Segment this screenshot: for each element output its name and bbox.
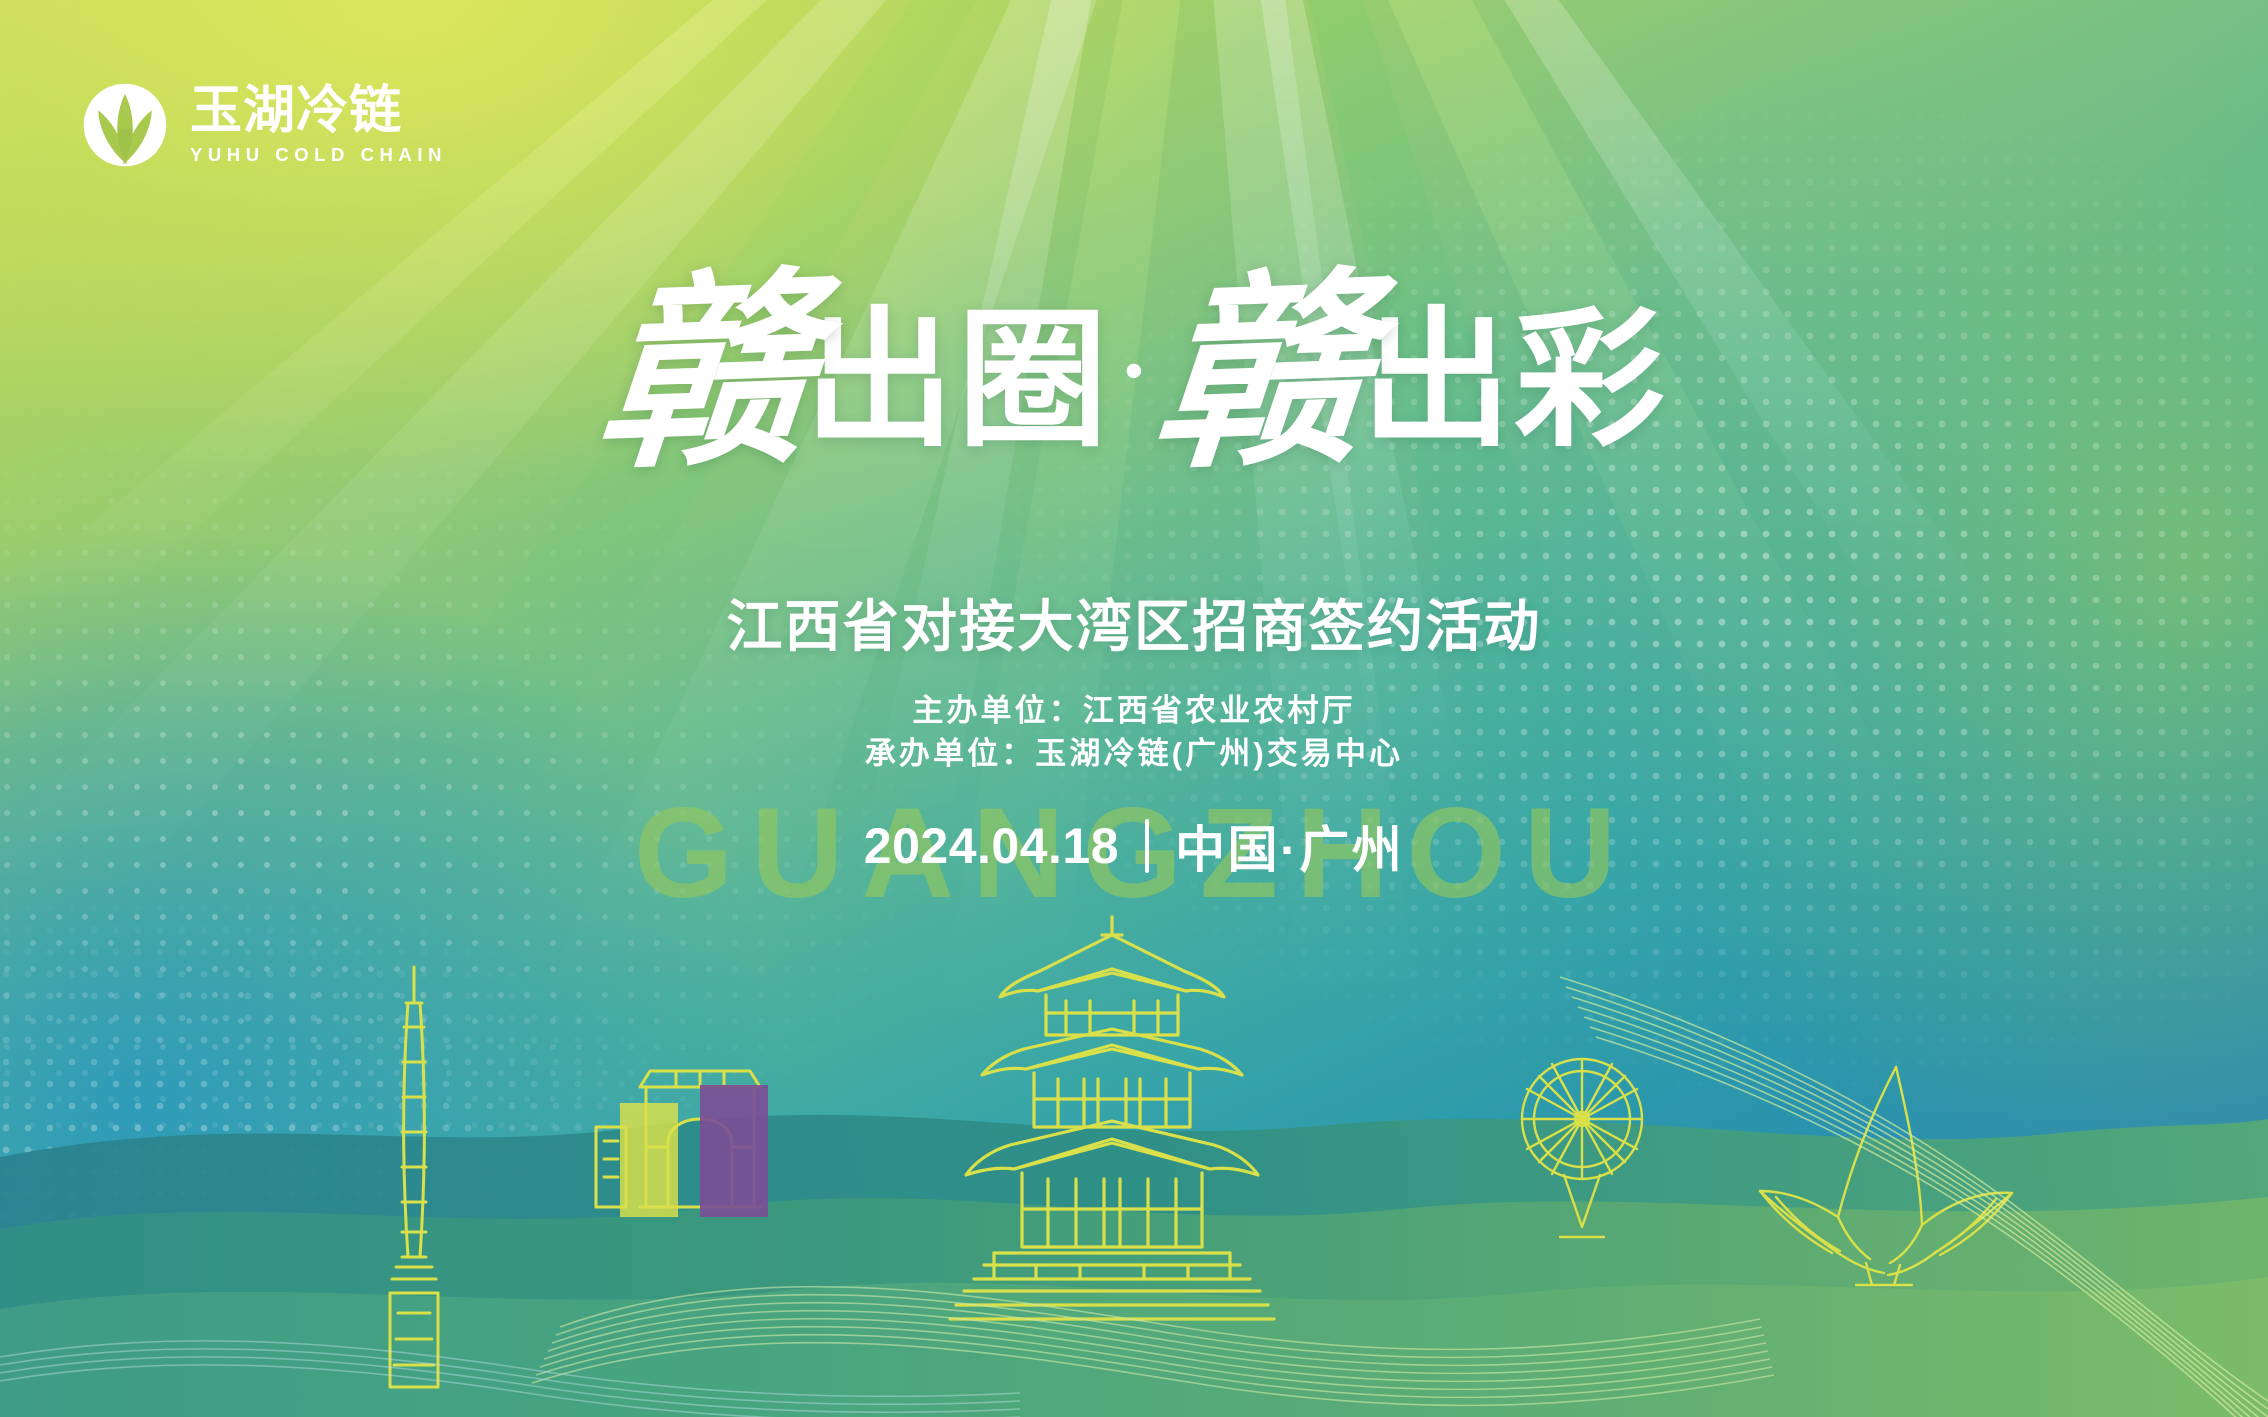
event-date: 2024.04.18 (864, 817, 1119, 875)
brand-logo[interactable]: 玉湖冷链 YUHU COLD CHAIN (82, 82, 447, 168)
yuhu-leaf-circle-icon (82, 82, 168, 168)
event-date-location: 2024.04.18 中国·广州 (0, 810, 2268, 882)
date-location-divider (1145, 819, 1149, 873)
brand-name-cn: 玉湖冷链 (190, 85, 447, 137)
event-banner: GUANGZHOU (0, 0, 2268, 1417)
headline-song-1: 出圈 (805, 305, 1111, 455)
brand-logo-text: 玉湖冷链 YUHU COLD CHAIN (190, 85, 447, 165)
organizer-co-host: 承办单位：玉湖冷链(广州)交易中心 (0, 733, 2268, 776)
headline-brush-2: 赣 (1149, 274, 1375, 473)
headline-separator: · (1117, 307, 1152, 435)
organizer-block: 主办单位：江西省农业农村厅 承办单位：玉湖冷链(广州)交易中心 (0, 690, 2268, 776)
subtitle: 江西省对接大湾区招商签约活动 (0, 596, 2268, 658)
event-location: 中国·广州 (1175, 810, 1404, 882)
headline-song-2: 出彩 (1361, 305, 1667, 455)
headline-row: 赣 出圈 · 赣 出彩 (601, 278, 1668, 469)
headline: 赣 出圈 · 赣 出彩 (0, 278, 2268, 469)
brand-name-en: YUHU COLD CHAIN (190, 146, 447, 165)
scenery-illustration (0, 857, 2268, 1417)
headline-brush-1: 赣 (592, 274, 818, 473)
organizer-host: 主办单位：江西省农业农村厅 (0, 690, 2268, 733)
